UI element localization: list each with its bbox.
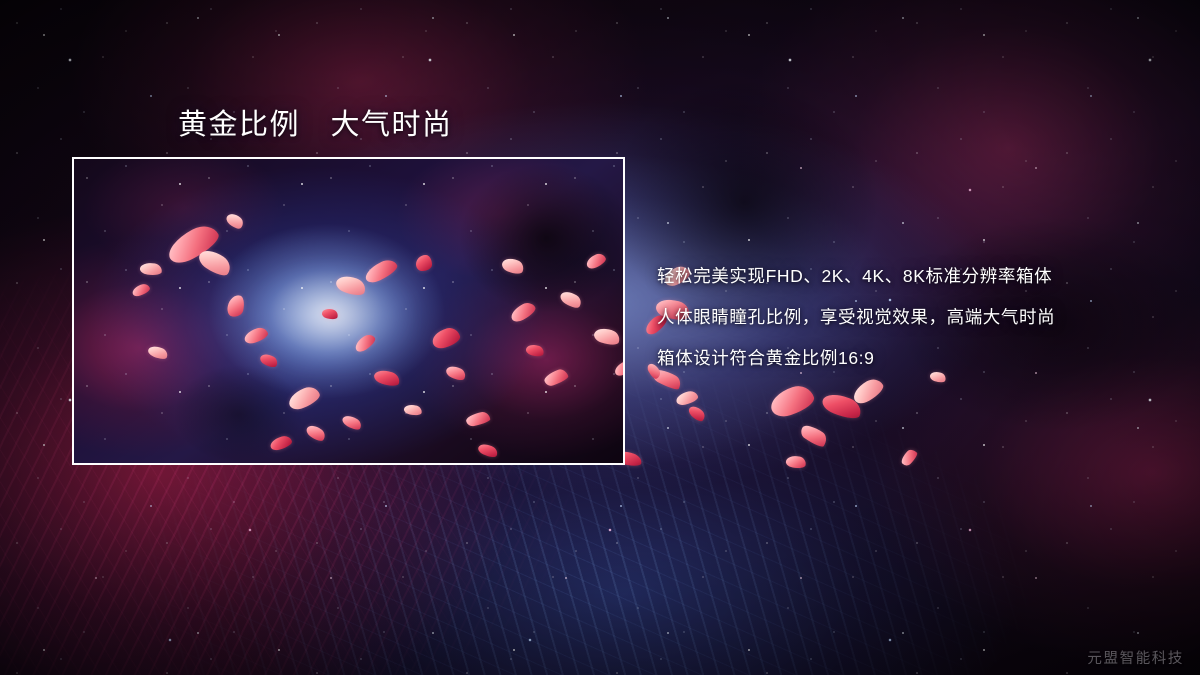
page-title: 黄金比例 大气时尚 (178, 101, 453, 143)
petal (899, 447, 919, 468)
petal (820, 389, 865, 423)
body-line-1: 轻松完美实现FHD、2K、4K、8K标准分辨率箱体 (657, 256, 1177, 297)
body-copy-block: 轻松完美实现FHD、2K、4K、8K标准分辨率箱体 人体眼睛瞳孔比例，享受视觉效… (657, 256, 1177, 379)
picture-frame[interactable] (72, 157, 625, 465)
picture-starfield (74, 159, 623, 463)
body-line-3: 箱体设计符合黄金比例16:9 (657, 338, 1177, 379)
petal (767, 382, 817, 420)
body-line-2: 人体眼睛瞳孔比例，享受视觉效果，高端大气时尚 (657, 297, 1177, 338)
slide-canvas: 黄金比例 大气时尚 轻松完美实现FHD、2K、4K、8K标准分辨率箱体 人体眼睛… (0, 0, 1200, 675)
petal (687, 403, 708, 423)
petal (798, 421, 830, 449)
watermark-label: 元盟智能科技 (1087, 647, 1184, 668)
petal (675, 390, 699, 407)
petal (785, 454, 807, 469)
petal (850, 375, 887, 407)
